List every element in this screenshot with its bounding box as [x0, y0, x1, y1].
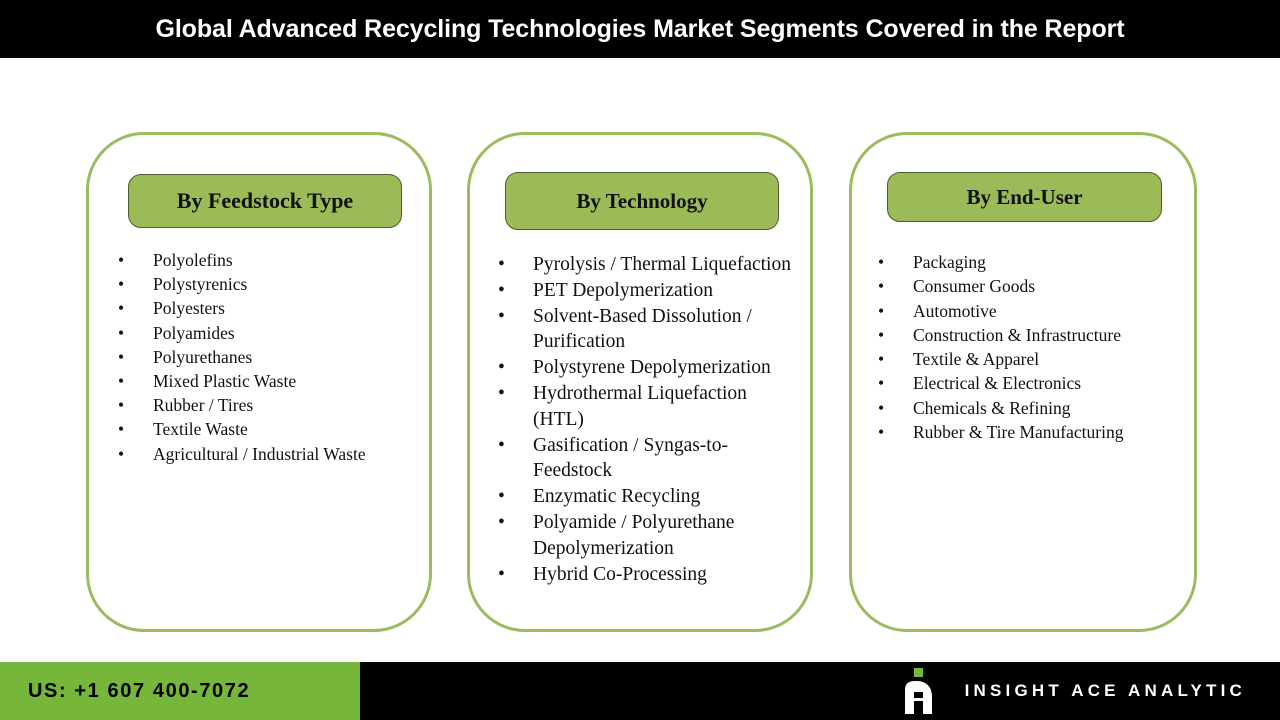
list-item: Polystyrene Depolymerization: [490, 355, 798, 381]
footer-bar: US: +1 607 400-7072 INSIGHT ACE ANALYTIC: [0, 662, 1280, 720]
list-item: PET Depolymerization: [490, 278, 798, 304]
segment-heading-label: By Feedstock Type: [177, 188, 353, 214]
list-item: Polyolefins: [110, 248, 410, 272]
list-item: Hydrothermal Liquefaction (HTL): [490, 381, 798, 433]
list-item: Construction & Infrastructure: [870, 323, 1188, 347]
insightace-a-mark-icon: [901, 668, 943, 714]
list-item: Agricultural / Industrial Waste: [110, 442, 410, 466]
list-item: Consumer Goods: [870, 274, 1188, 298]
list-item: Textile & Apparel: [870, 347, 1188, 371]
segment-list-feedstock-type: Polyolefins Polystyrenics Polyesters Pol…: [110, 248, 410, 466]
list-item: Pyrolysis / Thermal Liquefaction: [490, 252, 798, 278]
list-item: Gasification / Syngas-to-Feedstock: [490, 433, 798, 485]
list-item: Polyesters: [110, 296, 410, 320]
list-item: Hybrid Co-Processing: [490, 562, 798, 588]
brand-name: INSIGHT ACE ANALYTIC: [965, 681, 1246, 701]
list-item: Mixed Plastic Waste: [110, 369, 410, 393]
footer-phone-number: US: +1 607 400-7072: [28, 680, 250, 703]
segment-heading-label: By Technology: [576, 189, 707, 214]
list-item: Chemicals & Refining: [870, 396, 1188, 420]
list-item: Electrical & Electronics: [870, 371, 1188, 395]
list-item: Rubber / Tires: [110, 393, 410, 417]
list-item: Enzymatic Recycling: [490, 484, 798, 510]
segment-list-end-user: Packaging Consumer Goods Automotive Cons…: [870, 250, 1188, 444]
segment-header-technology: By Technology: [505, 172, 779, 230]
list-item: Polystyrenics: [110, 272, 410, 296]
brand-lockup: INSIGHT ACE ANALYTIC: [901, 662, 1246, 720]
list-item: Polyamides: [110, 321, 410, 345]
list-item: Rubber & Tire Manufacturing: [870, 420, 1188, 444]
segment-header-end-user: By End-User: [887, 172, 1162, 222]
title-bar: Global Advanced Recycling Technologies M…: [0, 0, 1280, 58]
segments-canvas: By Feedstock Type By Technology By End-U…: [0, 58, 1280, 662]
list-item: Packaging: [870, 250, 1188, 274]
segment-header-feedstock-type: By Feedstock Type: [128, 174, 402, 228]
list-item: Automotive: [870, 299, 1188, 323]
list-item: Textile Waste: [110, 417, 410, 441]
list-item: Polyurethanes: [110, 345, 410, 369]
list-item: Solvent-Based Dissolution / Purification: [490, 304, 798, 356]
segment-heading-label: By End-User: [966, 185, 1082, 210]
list-item: Polyamide / Polyurethane Depolymerizatio…: [490, 510, 798, 562]
segment-list-technology: Pyrolysis / Thermal Liquefaction PET Dep…: [490, 252, 798, 587]
footer-phone-band: US: +1 607 400-7072: [0, 662, 360, 720]
page-title: Global Advanced Recycling Technologies M…: [155, 15, 1124, 44]
